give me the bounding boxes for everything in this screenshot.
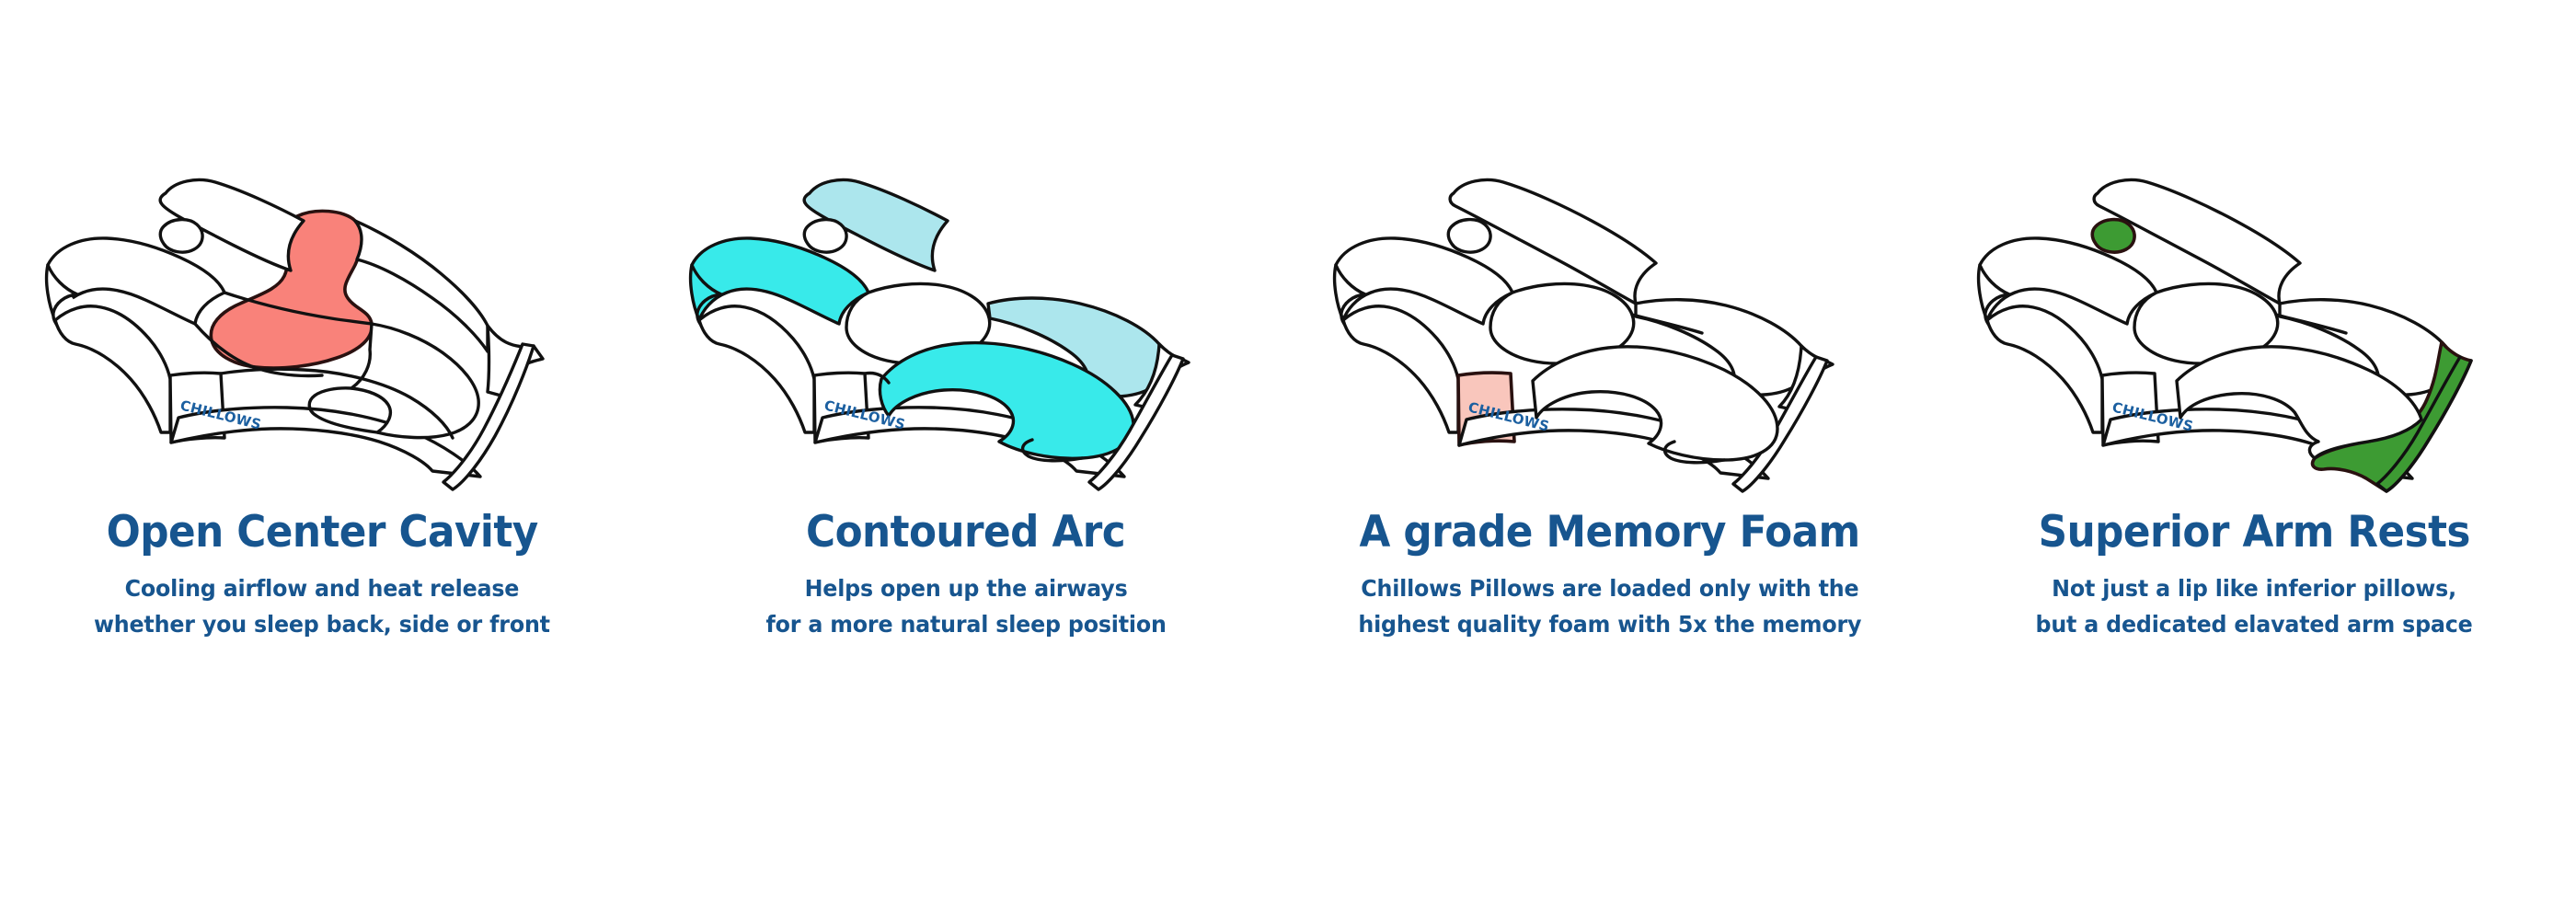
feature-desc-superior-arm-rests: Not just a lip like inferior pillows, bu… — [2035, 571, 2472, 643]
pillow-left-sidewall — [1987, 306, 2102, 432]
feature-column-contoured-arc: CHILLOWS Contoured Arc Helps open up the… — [644, 0, 1288, 643]
pillow-center-knob — [160, 220, 202, 253]
feature-column-superior-arm-rests: CHILLOWS Superior Arm Rests Not just a l… — [1932, 0, 2576, 643]
pillow-illustration-open-center-cavity: CHILLOWS — [28, 129, 616, 497]
feature-column-open-center-cavity: CHILLOWS Open Center Cavity Cooling airf… — [0, 0, 644, 643]
pillow-center-knob — [804, 220, 846, 253]
feature-desc-line-2: but a dedicated elavated arm space — [2035, 607, 2472, 643]
feature-title-superior-arm-rests: Superior Arm Rests — [2038, 510, 2469, 555]
feature-desc-contoured-arc: Helps open up the airways for a more nat… — [765, 571, 1166, 643]
feature-column-a-grade-memory-foam: CHILLOWS A grade Memory Foam Chillows Pi… — [1288, 0, 1932, 643]
pillow-left-sidewall — [55, 306, 170, 432]
pillow-illustration-a-grade-memory-foam: CHILLOWS — [1316, 129, 1904, 497]
feature-desc-a-grade-memory-foam: Chillows Pillows are loaded only with th… — [1359, 571, 1862, 643]
pillow-left-sidewall — [1343, 306, 1458, 432]
feature-columns-row: CHILLOWS Open Center Cavity Cooling airf… — [0, 0, 2576, 920]
feature-desc-line-2: highest quality foam with 5x the memory — [1359, 607, 1862, 643]
pillow-illustration-contoured-arc: CHILLOWS — [672, 129, 1260, 497]
pillow-center-knob — [1448, 220, 1490, 253]
feature-desc-line-1: Helps open up the airways — [765, 571, 1166, 607]
pillow-illustration-superior-arm-rests: CHILLOWS — [1960, 129, 2548, 497]
feature-desc-line-1: Chillows Pillows are loaded only with th… — [1359, 571, 1862, 607]
feature-title-a-grade-memory-foam: A grade Memory Foam — [1360, 510, 1860, 555]
feature-title-contoured-arc: Contoured Arc — [806, 510, 1125, 555]
feature-title-open-center-cavity: Open Center Cavity — [107, 510, 538, 555]
feature-desc-line-1: Cooling airflow and heat release — [94, 571, 550, 607]
feature-desc-open-center-cavity: Cooling airflow and heat release whether… — [94, 571, 550, 643]
feature-desc-line-2: for a more natural sleep position — [765, 607, 1166, 643]
feature-desc-line-2: whether you sleep back, side or front — [94, 607, 550, 643]
highlight-knob-arm-lip — [2092, 220, 2134, 253]
pillow-left-sidewall — [699, 306, 814, 432]
feature-desc-line-1: Not just a lip like inferior pillows, — [2035, 571, 2472, 607]
